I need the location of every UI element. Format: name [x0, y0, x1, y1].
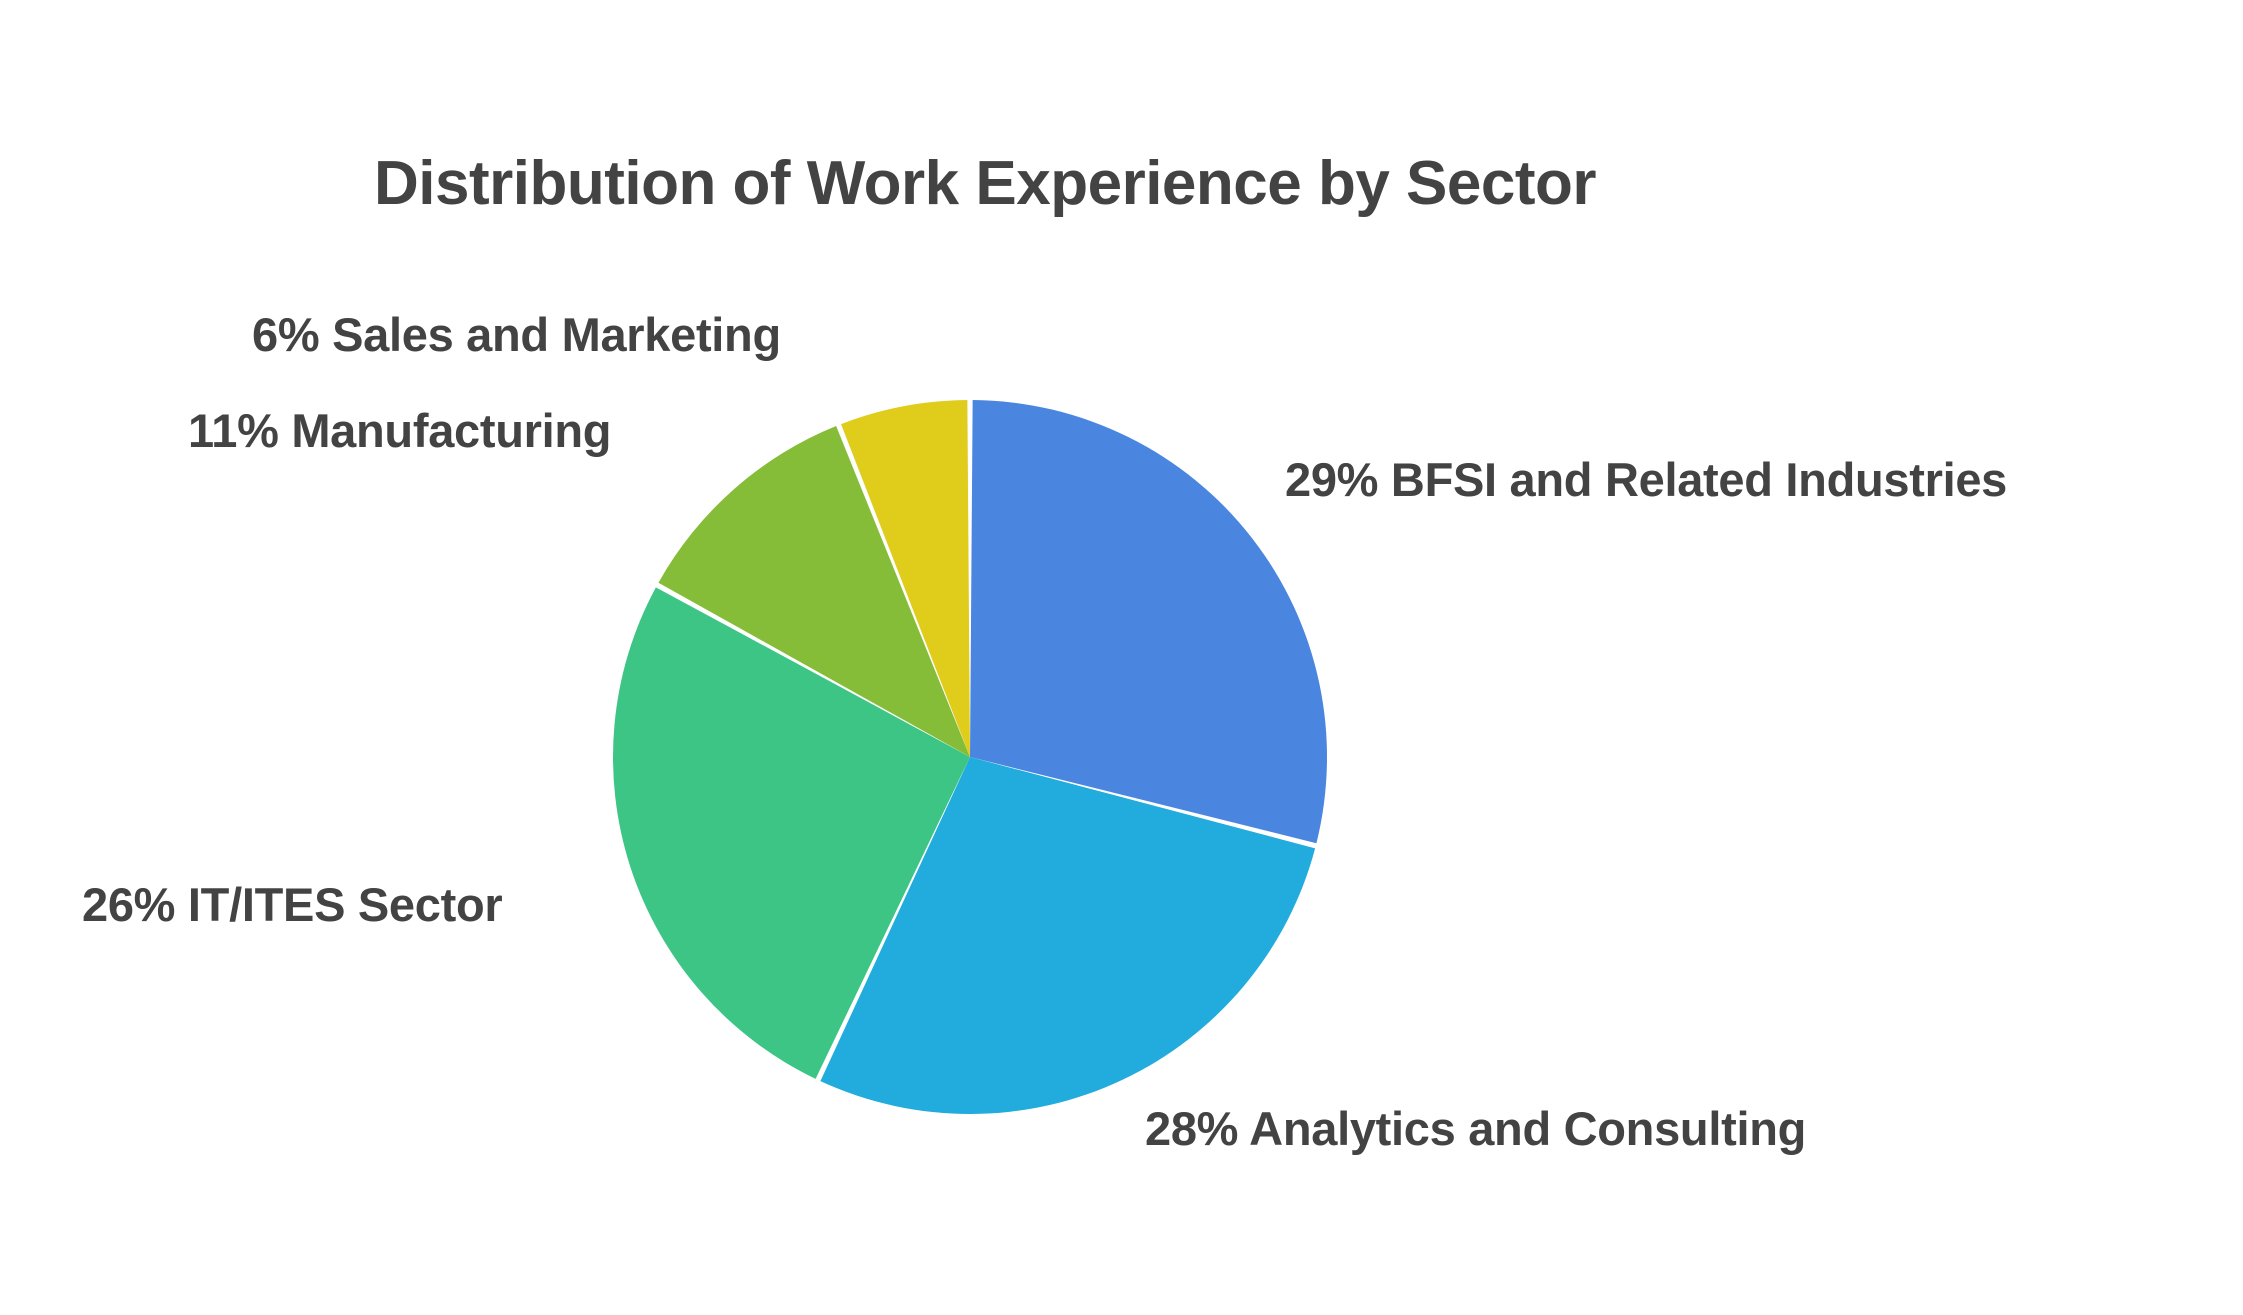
pie-chart-figure: Distribution of Work Experience by Secto…	[0, 0, 2243, 1315]
slice-label-itites: 26% IT/ITES Sector	[82, 880, 502, 929]
pie-chart-graphic	[0, 0, 2243, 1315]
slice-label-manufacturing: 11% Manufacturing	[188, 406, 611, 455]
pie-slice-group	[613, 400, 1327, 1114]
slice-label-bfsi: 29% BFSI and Related Industries	[1285, 455, 2007, 504]
slice-label-analytics: 28% Analytics and Consulting	[1145, 1104, 1806, 1153]
slice-label-sales: 6% Sales and Marketing	[252, 310, 781, 359]
